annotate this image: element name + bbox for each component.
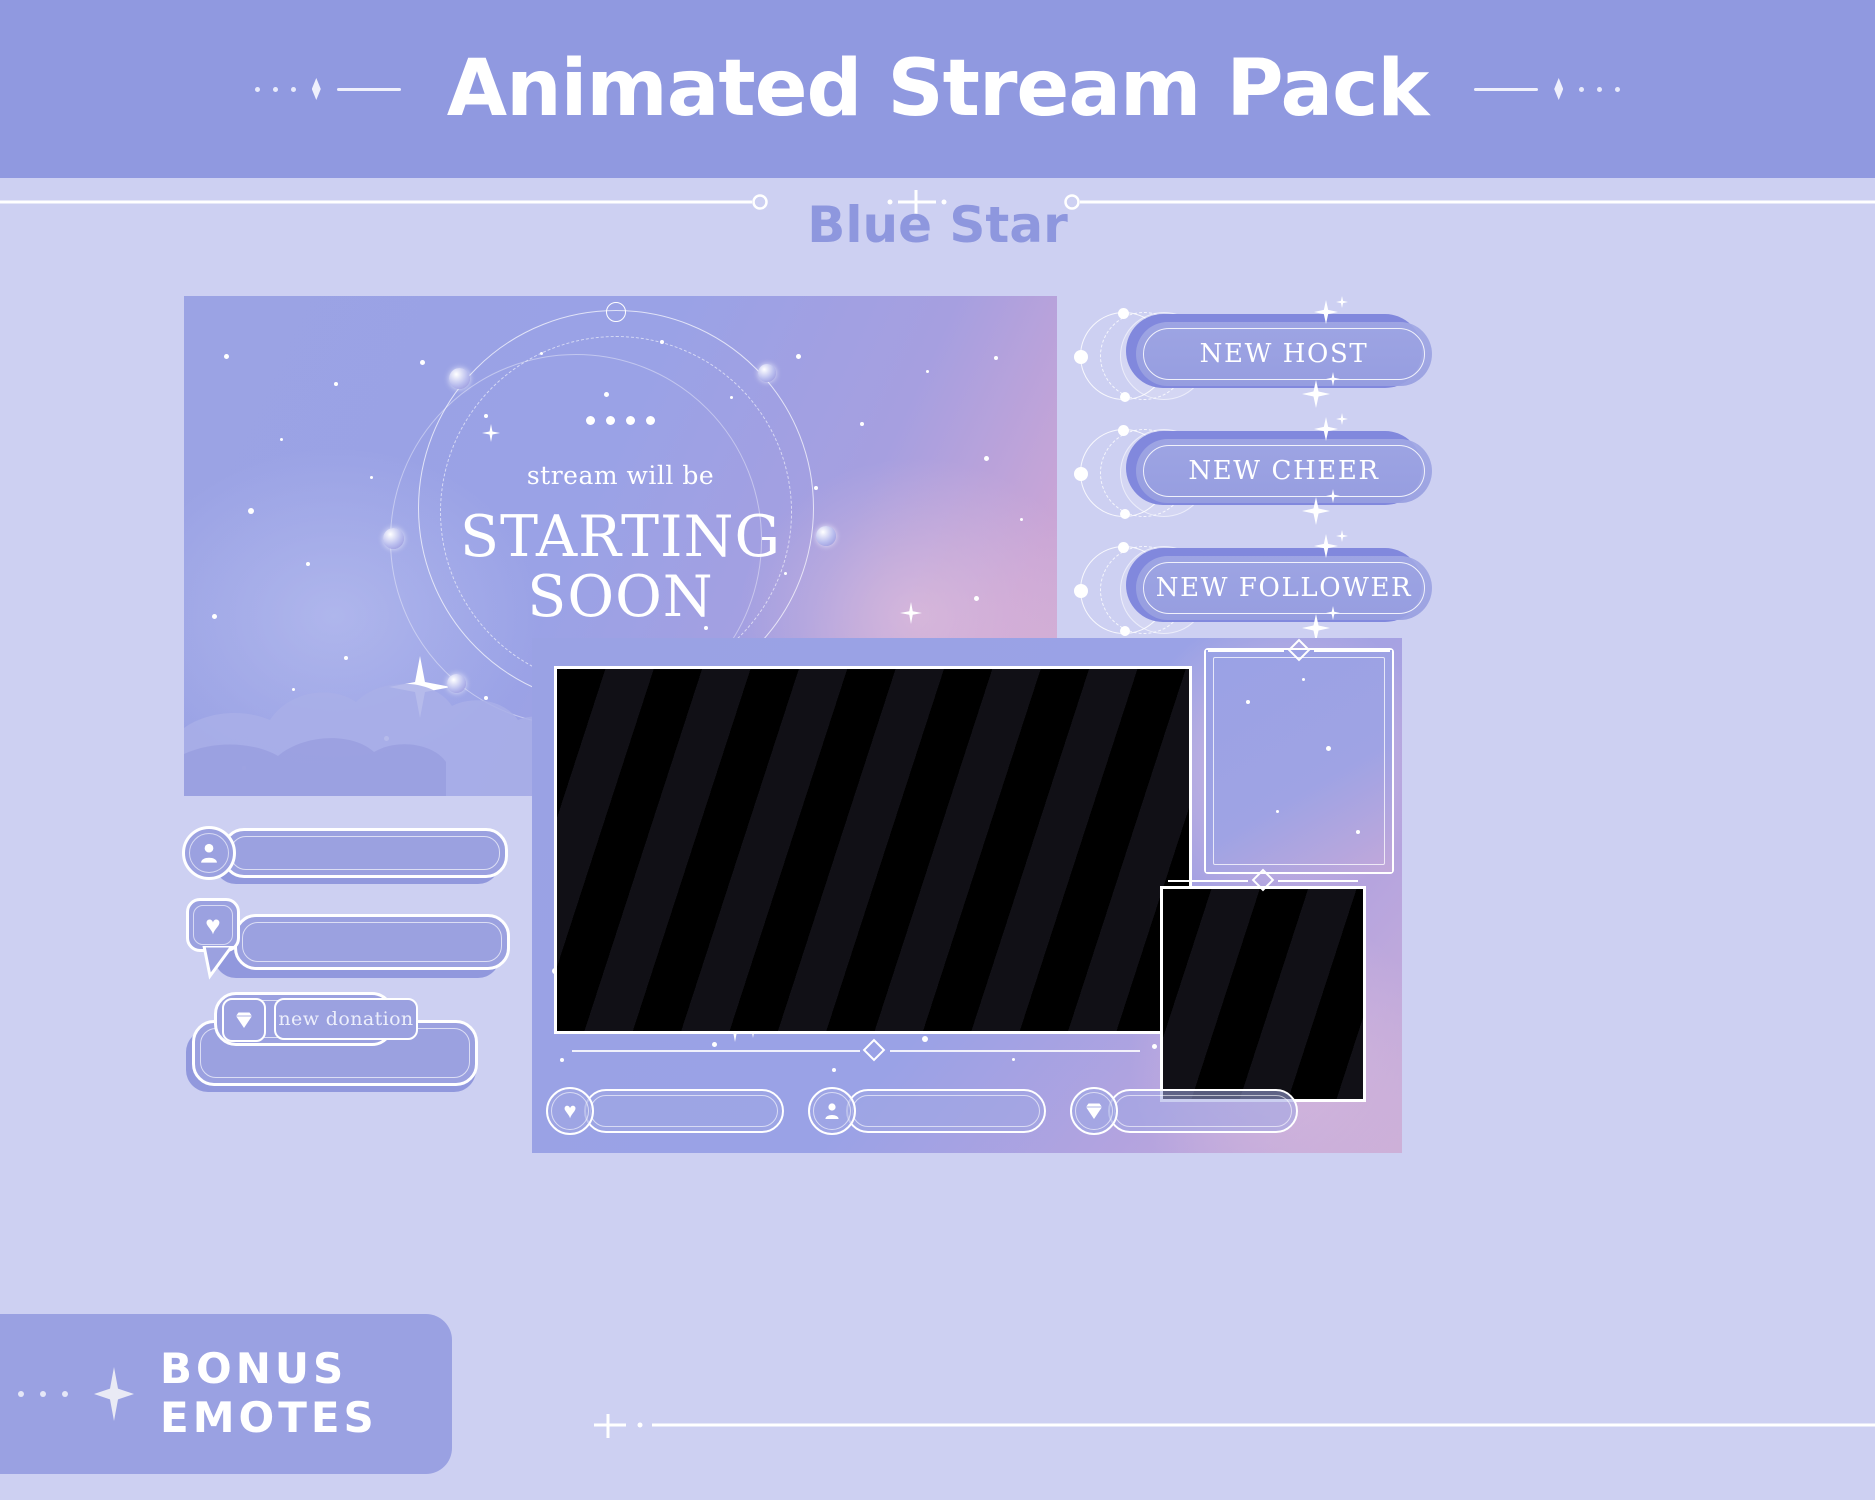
page-title: Animated Stream Pack [447,44,1428,134]
overlay-pill-bar[interactable] [1108,1089,1298,1133]
frame-accent-line [1208,650,1284,652]
sparkle-icon [1336,296,1348,308]
orbit-planet [449,368,470,389]
alert-badge-new-host[interactable]: NEW HOST [1074,300,1474,408]
secondary-capture-area [1160,886,1366,1102]
frame-accent-line [1278,880,1358,882]
main-capture-area [554,666,1192,1034]
overlay-pill-diamond[interactable] [1070,1085,1298,1137]
starting-soon-text-block: stream will be STARTING SOON [184,416,1057,628]
side-portrait-frame [1204,648,1394,874]
heart-glyph: ♥ [563,1100,576,1122]
alert-badge-new-cheer[interactable]: NEW CHEER [1074,417,1474,525]
orbit-planet [758,364,776,382]
divider-bottom [0,1400,1875,1450]
starting-label: STARTING [184,508,1057,568]
speech-tail [198,946,238,980]
person-glyph [822,1101,842,1121]
alert-label: NEW FOLLOWER [1156,573,1412,603]
stream-overlay-panel: ♥ [532,638,1402,1153]
chat-widgets-group: ♥ new donation [178,822,508,1104]
pack-name: Blue Star [0,196,1875,254]
diamond-icon [1554,78,1563,100]
widget-bar[interactable] [234,914,510,970]
alert-label: NEW CHEER [1188,456,1379,486]
dash-icon [337,88,401,91]
diamond-icon [312,78,321,100]
diamond-icon[interactable] [222,998,266,1042]
overlay-pill-heart[interactable]: ♥ [546,1085,784,1137]
header-dots-right [1579,87,1620,92]
header-dots-left [255,87,296,92]
stream-will-be-label: stream will be [184,461,1057,490]
alert-badge-new-follower[interactable]: NEW FOLLOWER [1074,534,1474,642]
diamond-glyph [1083,1101,1105,1121]
frame-accent-line [1314,650,1390,652]
badge-pill[interactable]: NEW CHEER [1136,439,1432,503]
overlay-bottom-bar: ♥ [546,1085,1298,1137]
frame-accent-line [1168,880,1248,882]
heart-icon[interactable]: ♥ [186,898,240,952]
orbit-node-ring [606,302,626,322]
bonus-emotes-banner[interactable]: BONUS EMOTES [0,1314,452,1474]
widget-bar[interactable] [222,828,508,878]
alert-badges-group: NEW HOST NEW CHEER NEW FOLLO [1074,300,1474,651]
bonus-dots [18,1391,68,1397]
person-icon[interactable] [182,826,236,880]
alert-label: NEW HOST [1200,339,1369,369]
donation-label: new donation [274,998,418,1040]
heart-icon[interactable]: ♥ [546,1087,594,1135]
dots-indicator [184,416,1057,425]
divider-accent-line [572,1050,860,1052]
person-icon[interactable] [808,1087,856,1135]
bonus-line-1: BONUS [160,1344,347,1393]
overlay-pill-person[interactable] [808,1085,1046,1137]
badge-pill[interactable]: NEW HOST [1136,322,1432,386]
divider-accent-line [890,1050,1140,1052]
widget-new-follower[interactable] [178,822,508,890]
diamond-glyph [233,1010,255,1030]
diamond-marker-icon [863,1039,886,1062]
person-glyph [197,841,221,865]
overlay-pill-bar[interactable] [846,1089,1046,1133]
sparkle-icon [1336,530,1348,542]
sparkle-icon [1336,413,1348,425]
page-header: Animated Stream Pack [0,0,1875,178]
widget-new-sub[interactable]: ♥ [178,898,508,984]
heart-glyph: ♥ [205,912,220,938]
dash-icon [1474,88,1538,91]
diamond-icon[interactable] [1070,1087,1118,1135]
widget-new-donation[interactable]: new donation [178,994,508,1104]
header-decoration-left [255,78,401,100]
badge-pill[interactable]: NEW FOLLOWER [1136,556,1432,620]
header-decoration-right [1474,78,1620,100]
overlay-pill-bar[interactable] [584,1089,784,1133]
